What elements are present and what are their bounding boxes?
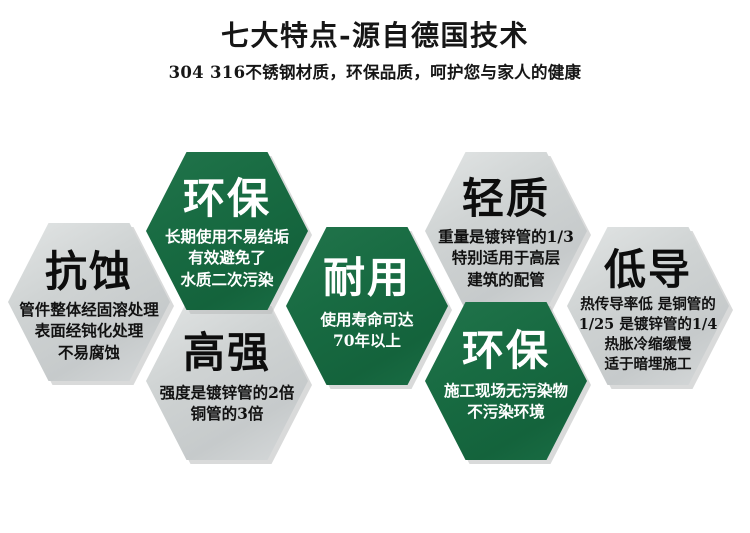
hexagon-body-line: 长期使用不易结垢: [165, 226, 289, 247]
hexagon-title-kangshi: 抗蚀: [45, 251, 133, 293]
hexagon-grid: 抗蚀管件整体经固溶处理表面经钝化处理不易腐蚀高强强度是镀锌管的2倍铜管的3倍轻质…: [0, 0, 750, 533]
hexagon-body-line: 水质二次污染: [165, 269, 289, 290]
hexagon-title-qingzhi: 轻质: [462, 178, 550, 220]
hexagon-body-line: 热传导率低 是铜管的: [579, 295, 718, 315]
hexagon-title-gaoqiang: 高强: [183, 332, 271, 374]
hexagon-title-didao: 低导: [604, 249, 692, 291]
hexagon-body-line: 建筑的配管: [438, 269, 574, 290]
hexagon-body-gaoqiang: 强度是镀锌管的2倍铜管的3倍: [160, 382, 295, 425]
hexagon-body-naiyong: 使用寿命可达70年以上: [320, 309, 413, 352]
hexagon-body-line: 特别适用于高层: [438, 247, 574, 268]
hexagon-body-line: 不易腐蚀: [19, 342, 159, 363]
hexagon-body-line: 有效避免了: [165, 247, 289, 268]
infographic-canvas: 七大特点-源自德国技术 304 316不锈钢材质，环保品质，呵护您与家人的健康 …: [0, 0, 750, 533]
hexagon-body-line: 铜管的3倍: [160, 403, 295, 424]
hexagon-body-kangshi: 管件整体经固溶处理表面经钝化处理不易腐蚀: [19, 299, 159, 363]
hexagon-body-line: 施工现场无污染物: [444, 380, 568, 401]
hexagon-title-huanbao-bottom: 环保: [462, 330, 550, 372]
hexagon-body-line: 1/25 是镀锌管的1/4: [579, 315, 718, 335]
hexagon-body-line: 不污染环境: [444, 401, 568, 422]
hexagon-body-line: 管件整体经固溶处理: [19, 299, 159, 320]
hexagon-body-line: 使用寿命可达: [320, 309, 413, 330]
hexagon-body-line: 强度是镀锌管的2倍: [160, 382, 295, 403]
hexagon-body-huanbao-top: 长期使用不易结垢有效避免了水质二次污染: [165, 226, 289, 290]
hexagon-body-line: 表面经钝化处理: [19, 320, 159, 341]
hexagon-body-qingzhi: 重量是镀锌管的1/3特别适用于高层建筑的配管: [438, 226, 574, 290]
hexagon-body-huanbao-bottom: 施工现场无污染物不污染环境: [444, 380, 568, 423]
hexagon-body-line: 重量是镀锌管的1/3: [438, 226, 574, 247]
hexagon-body-line: 热胀冷缩缓慢: [579, 335, 718, 355]
hexagon-body-didao: 热传导率低 是铜管的1/25 是镀锌管的1/4热胀冷缩缓慢适于暗埋施工: [579, 295, 718, 375]
hexagon-body-line: 70年以上: [320, 330, 413, 351]
hexagon-title-naiyong: 耐用: [323, 257, 411, 299]
hexagon-title-huanbao-top: 环保: [183, 178, 271, 220]
